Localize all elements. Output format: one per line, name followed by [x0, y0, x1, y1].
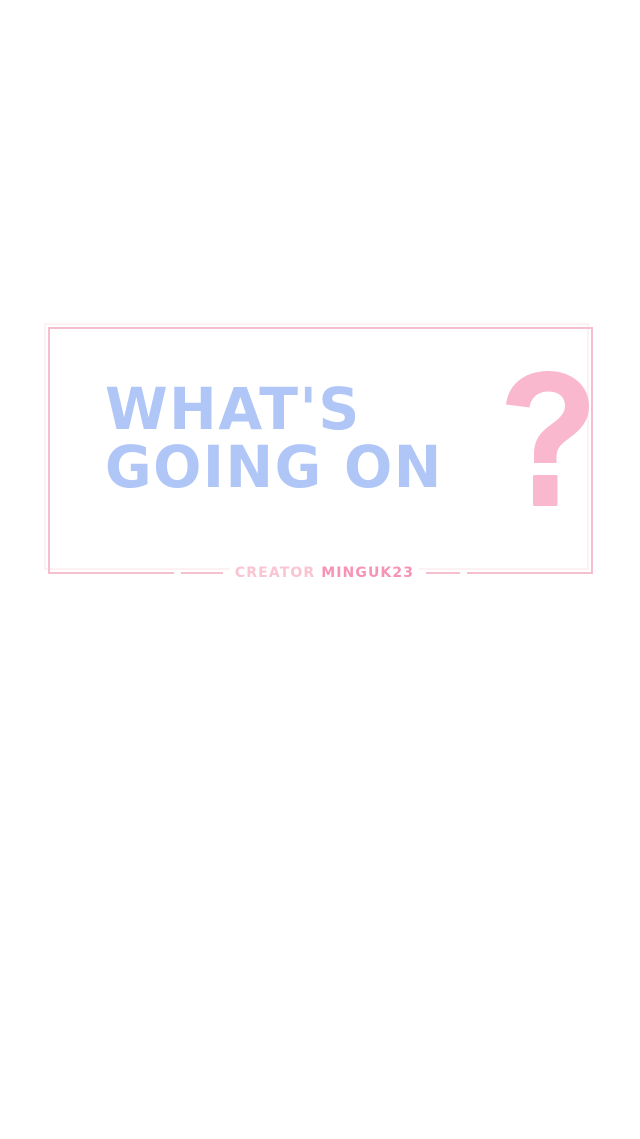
byline-rule-outer-right [467, 572, 593, 574]
creator-byline: CREATOR MINGUK23 [48, 563, 593, 583]
headline-line-1: WHAT'S [105, 385, 361, 434]
frame-left-border [48, 327, 50, 574]
byline-text: CREATOR MINGUK23 [230, 566, 419, 580]
byline-rule-outer-left [48, 572, 174, 574]
byline-rule-right [426, 572, 460, 574]
byline-creator-handle: MINGUK23 [321, 565, 414, 581]
byline-role-label: CREATOR [235, 565, 315, 581]
title-card: WHAT'S GOING ON CREATOR MINGUK23 [48, 327, 593, 574]
frame-top-border [48, 327, 593, 329]
frame-right-border [591, 327, 593, 574]
byline-rule-left [181, 572, 223, 574]
headline-block: WHAT'S GOING ON [105, 385, 575, 525]
headline-line-2: GOING ON [105, 443, 443, 492]
